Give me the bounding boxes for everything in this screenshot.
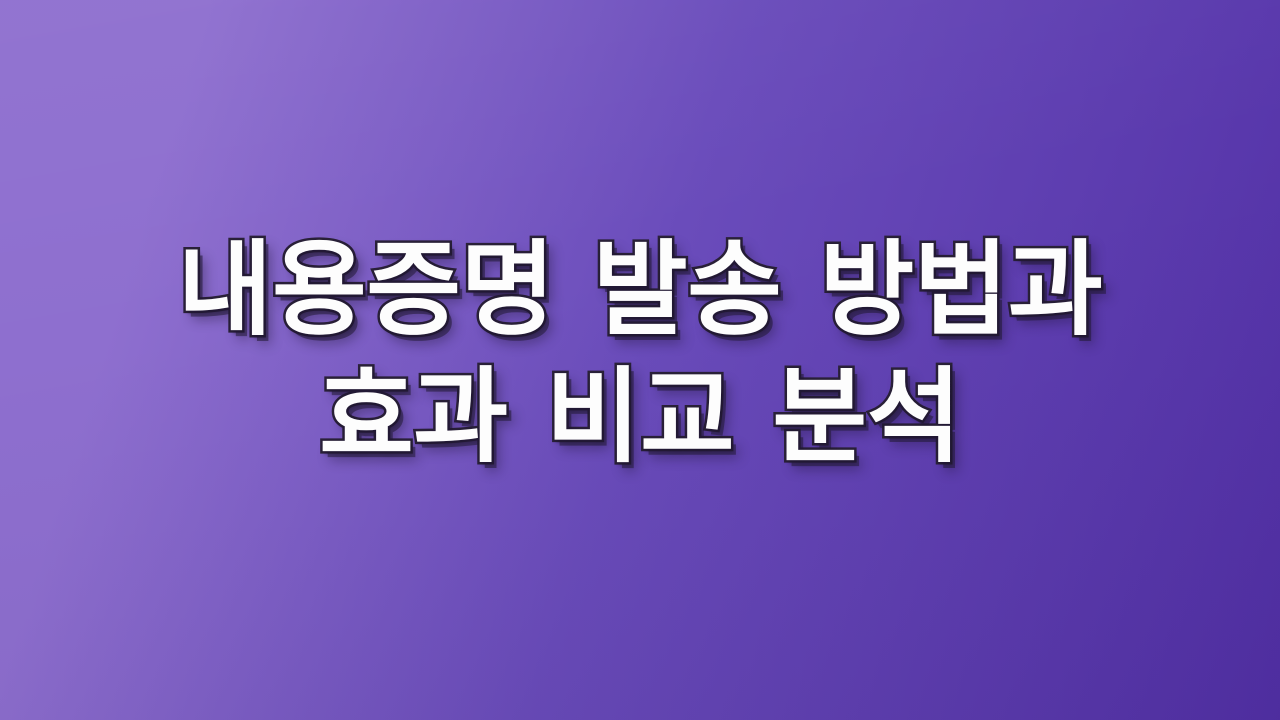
title-block: 내용증명 발송 방법과 효과 비교 분석	[50, 226, 1230, 480]
title-line-2: 효과 비교 분석	[70, 353, 1210, 480]
title-line-1: 내용증명 발송 방법과	[70, 226, 1210, 353]
thumbnail-canvas: 내용증명 발송 방법과 효과 비교 분석	[0, 0, 1280, 720]
